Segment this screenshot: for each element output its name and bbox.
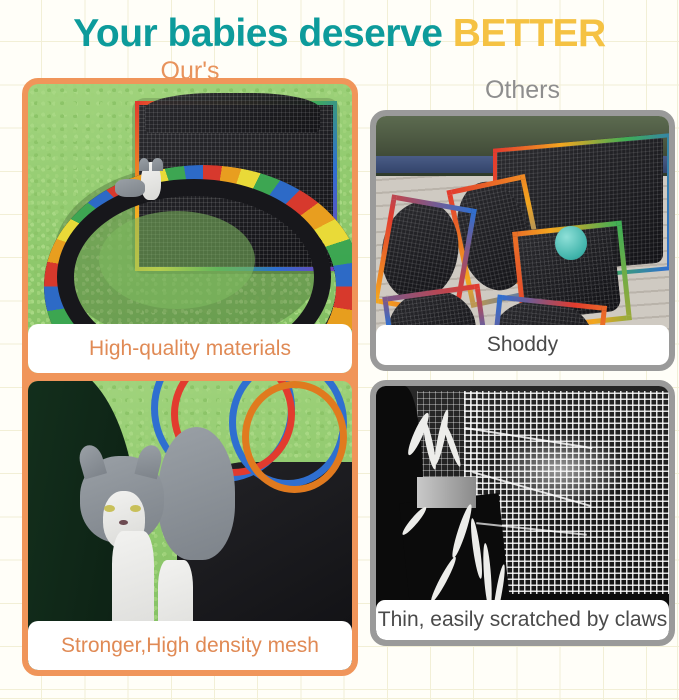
panel-others-top: Shoddy <box>370 110 675 371</box>
title-part-highlight: BETTER <box>453 12 606 55</box>
cell-ours-top: High-quality materials <box>28 84 352 373</box>
toy-ball <box>555 226 587 261</box>
cat-standing <box>158 427 236 560</box>
caption-others-bottom: Thin, easily scratched by claws <box>376 600 669 640</box>
panel-others-bottom: Thin, easily scratched by claws <box>370 380 675 646</box>
cell-others-bottom: Thin, easily scratched by claws <box>376 386 669 640</box>
column-header-others: Others <box>370 76 675 105</box>
caption-ours-top: High-quality materials <box>28 324 352 373</box>
caption-ours-bottom: Stronger,High density mesh <box>28 621 352 670</box>
panel-ours: High-quality materials <box>22 78 358 676</box>
page-title: Your babies deserve BETTER <box>0 12 679 56</box>
cell-ours-bottom: Stronger,High density mesh <box>28 381 352 670</box>
panel-divider <box>28 373 352 381</box>
cell-others-top: Shoddy <box>376 116 669 365</box>
caption-others-top: Shoddy <box>376 325 669 365</box>
title-part-primary: Your babies deserve <box>73 12 452 55</box>
